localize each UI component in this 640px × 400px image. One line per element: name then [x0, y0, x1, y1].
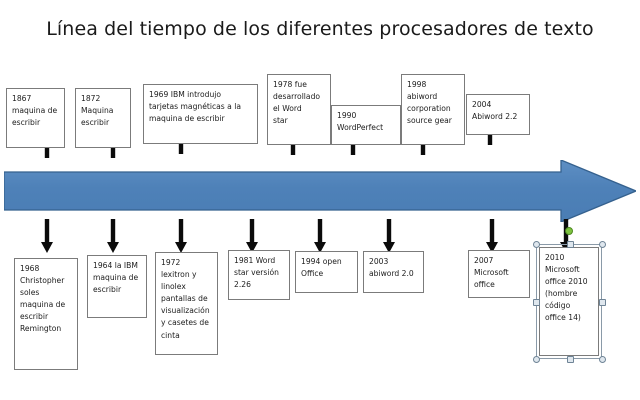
rotation-handle[interactable]	[565, 227, 573, 235]
timeline-arrow-right[interactable]	[4, 160, 636, 222]
event-box-text: 1994 open Office	[301, 256, 353, 280]
event-box-2003[interactable]: 2003 abiword 2.0	[363, 251, 424, 293]
event-box-1969[interactable]: 1969 IBM introdujo tarjetas magnéticas a…	[143, 84, 258, 144]
connector-arrow-down-7	[485, 219, 499, 253]
event-box-1867[interactable]: 1867 maquina de escribir	[6, 88, 65, 148]
event-box-text: 1972 lexitron y linolex pantallas de vis…	[161, 257, 213, 342]
arrow-shape	[4, 160, 636, 222]
connector-arrow-down-6	[382, 219, 396, 253]
resize-handle-bottom-right[interactable]	[599, 356, 606, 363]
event-box-1990[interactable]: 1990 WordPerfect	[331, 105, 401, 145]
event-box-text: 1872 Maquina escribir	[81, 93, 126, 129]
event-box-1981[interactable]: 1981 Word star versión 2.26	[228, 250, 290, 300]
resize-handle-bottom-center[interactable]	[567, 356, 574, 363]
resize-handle-bottom-left[interactable]	[533, 356, 540, 363]
event-box-2010[interactable]: 2010 Microsoft office 2010 (hombre códig…	[539, 247, 599, 356]
connector-arrow-down-1	[40, 219, 54, 253]
resize-handle-middle-right[interactable]	[599, 299, 606, 306]
event-box-text: 2004 Abiword 2.2	[472, 99, 525, 123]
event-box-1872[interactable]: 1872 Maquina escribir	[75, 88, 131, 148]
connector-arrow-down-5	[313, 219, 327, 253]
connector-arrow-down-4	[245, 219, 259, 253]
resize-handle-top-right[interactable]	[599, 241, 606, 248]
page-title: Línea del tiempo de los diferentes proce…	[0, 18, 640, 40]
slide-canvas: Línea del tiempo de los diferentes proce…	[0, 0, 640, 400]
event-box-text: 1981 Word star versión 2.26	[234, 255, 285, 291]
event-box-2004[interactable]: 2004 Abiword 2.2	[466, 94, 530, 135]
event-box-1964[interactable]: 1964 la IBM maquina de escribir	[87, 255, 147, 318]
connector-arrow-down-2	[106, 219, 120, 253]
event-box-text: 1968 Christopher soles maquina de escrib…	[20, 263, 73, 336]
event-box-text: 1867 maquina de escribir	[12, 93, 60, 129]
event-box-1994[interactable]: 1994 open Office	[295, 251, 358, 293]
event-box-2007[interactable]: 2007 Microsoft office	[468, 250, 530, 298]
event-box-text: 2003 abiword 2.0	[369, 256, 419, 280]
event-box-text: 2007 Microsoft office	[474, 255, 525, 291]
event-box-1998[interactable]: 1998 abiword corporation source gear	[401, 74, 465, 145]
connector-arrow-down-3	[174, 219, 188, 253]
event-box-text: 1998 abiword corporation source gear	[407, 79, 460, 127]
event-box-text: 1969 IBM introdujo tarjetas magnéticas a…	[149, 89, 253, 125]
event-box-1968[interactable]: 1968 Christopher soles maquina de escrib…	[14, 258, 78, 370]
event-box-text: 1978 fue desarrollado el Word star	[273, 79, 326, 127]
event-box-text: 1964 la IBM maquina de escribir	[93, 260, 142, 296]
event-box-text: 2010 Microsoft office 2010 (hombre códig…	[545, 252, 594, 325]
event-box-1972[interactable]: 1972 lexitron y linolex pantallas de vis…	[155, 252, 218, 355]
event-box-1978[interactable]: 1978 fue desarrollado el Word star	[267, 74, 331, 145]
event-box-text: 1990 WordPerfect	[337, 110, 396, 134]
